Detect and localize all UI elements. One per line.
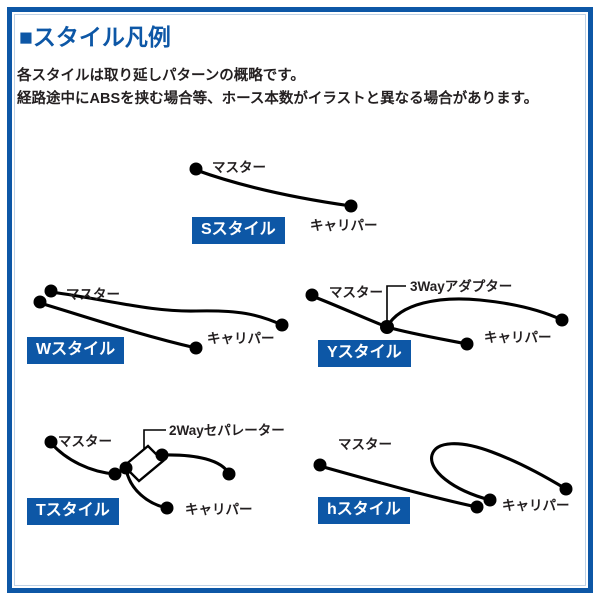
- y-style-three-way-adapter-node: [380, 320, 394, 334]
- h-style-caliper-node-mid: [484, 494, 497, 507]
- w-style-caliper-node-lower: [190, 342, 203, 355]
- h-style-caliper-label: キャリパー: [502, 499, 570, 513]
- y-style-hose-master-to-adapter: [312, 296, 387, 327]
- s-style-master-node: [190, 163, 203, 176]
- t-style-caliper-node-lower: [161, 502, 174, 515]
- w-style-master-node-lower: [34, 296, 47, 309]
- y-style-caliper-node-right: [556, 314, 569, 327]
- h-style-caliper-node-lower: [471, 501, 484, 514]
- content-area: ■スタイル凡例 各スタイルは取り延しパターンの概略です。 経路途中にABSを挟む…: [0, 0, 600, 600]
- y-style-caliper-node-lower: [461, 338, 474, 351]
- h-style-badge: hスタイル: [318, 497, 410, 524]
- t-style-caliper-label: キャリパー: [185, 503, 253, 517]
- y-style-caliper-label: キャリパー: [484, 331, 552, 345]
- t-style-hose-separator-to-caliper-right: [162, 455, 229, 474]
- s-style-caliper-label: キャリパー: [310, 219, 378, 233]
- y-style-master-node: [306, 289, 319, 302]
- t-style-junction-node-left: [109, 468, 122, 481]
- t-style-master-node: [45, 436, 58, 449]
- y-style-three-way-adapter-label: 3Wayアダプター: [410, 280, 512, 294]
- style-legend-page: ■スタイル凡例 各スタイルは取り延しパターンの概略です。 経路途中にABSを挟む…: [0, 0, 600, 600]
- w-style-master-node-upper: [45, 285, 58, 298]
- w-style-master-label: マスター: [66, 288, 120, 302]
- t-style-master-label: マスター: [58, 435, 112, 449]
- t-style-two-way-separator-label: 2Wayセパレーター: [169, 424, 285, 438]
- t-style-badge: Tスタイル: [27, 498, 119, 525]
- h-style-hose-loop: [432, 444, 566, 500]
- y-style-hose-adapter-to-caliper-upper: [387, 299, 562, 327]
- t-style-junction-node-center: [120, 462, 133, 475]
- w-style-caliper-label: キャリパー: [207, 332, 275, 346]
- h-style-caliper-node-right: [560, 483, 573, 496]
- t-style-caliper-node-right: [223, 468, 236, 481]
- s-style-caliper-node: [345, 200, 358, 213]
- w-style-badge: Wスタイル: [27, 337, 124, 364]
- s-style-badge: Sスタイル: [192, 217, 285, 244]
- t-style-separator-node-right: [156, 449, 169, 462]
- y-style-badge: Yスタイル: [318, 340, 411, 367]
- s-style-hose-master-to-caliper: [196, 170, 351, 206]
- s-style-master-label: マスター: [212, 161, 266, 175]
- h-style-master-label: マスター: [338, 438, 392, 452]
- y-style-master-label: マスター: [329, 286, 383, 300]
- h-style-master-node: [314, 459, 327, 472]
- w-style-caliper-node-right: [276, 319, 289, 332]
